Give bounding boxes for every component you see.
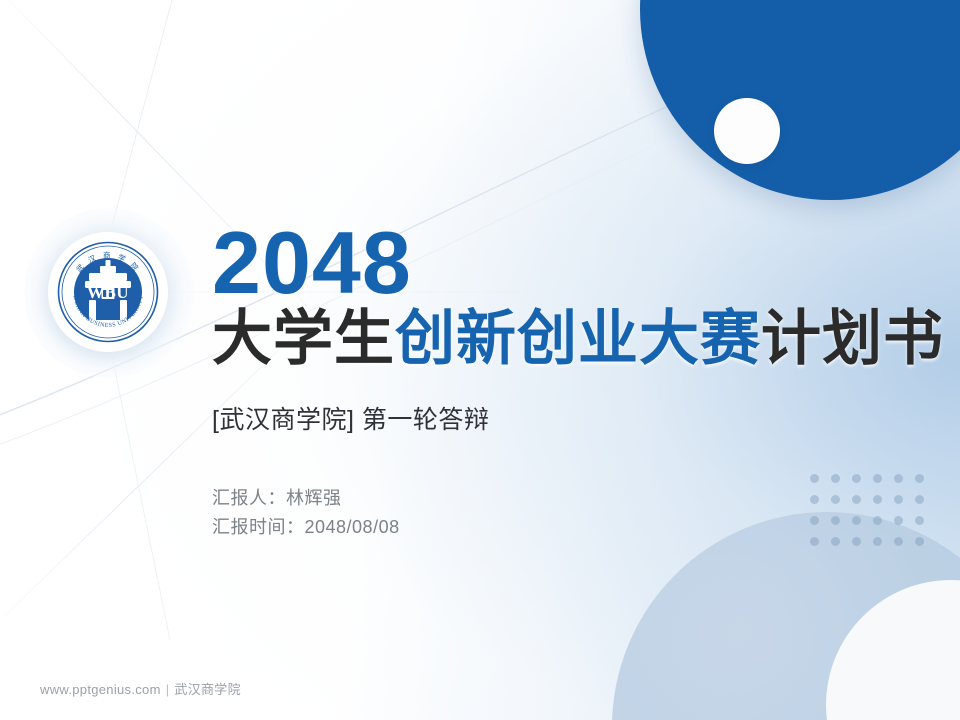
page-title-lead: 大学生 bbox=[212, 305, 395, 372]
soft-blue-circle-decoration bbox=[612, 512, 960, 720]
university-logo-icon: WBU 武 汉 商 学 院 WUHAN BUSINESS UNIVERSITY bbox=[56, 240, 160, 344]
svg-text:WBU: WBU bbox=[87, 283, 129, 302]
presenter-line: 汇报人：林辉强 bbox=[212, 484, 912, 513]
white-circle-bottom-right-decoration bbox=[826, 580, 960, 720]
subtitle: [武汉商学院] 第一轮答辩 bbox=[212, 400, 912, 436]
page-title-accent: 创新创业大赛 bbox=[395, 305, 761, 372]
footer-site-link[interactable]: www.pptgenius.com bbox=[40, 682, 161, 697]
footer: www.pptgenius.com|武汉商学院 bbox=[40, 679, 241, 698]
footer-org: 武汉商学院 bbox=[174, 682, 241, 697]
white-circle-top-right-decoration bbox=[714, 98, 780, 164]
blue-circle-top-right-decoration bbox=[640, 0, 960, 200]
title-slide: WBU 武 汉 商 学 院 WUHAN BUSINESS UNIVERSITY … bbox=[0, 0, 960, 720]
page-title: 大学生创新创业大赛计划书 bbox=[212, 307, 912, 371]
year-heading: 2048 bbox=[212, 222, 912, 305]
footer-separator: | bbox=[166, 682, 170, 697]
presentation-meta: 汇报人：林辉强 汇报时间：2048/08/08 bbox=[212, 484, 912, 542]
page-title-tail: 计划书 bbox=[761, 305, 944, 372]
report-date-line: 汇报时间：2048/08/08 bbox=[212, 513, 912, 542]
title-content-block: 2048 大学生创新创业大赛计划书 [武汉商学院] 第一轮答辩 汇报人：林辉强 … bbox=[212, 222, 912, 543]
